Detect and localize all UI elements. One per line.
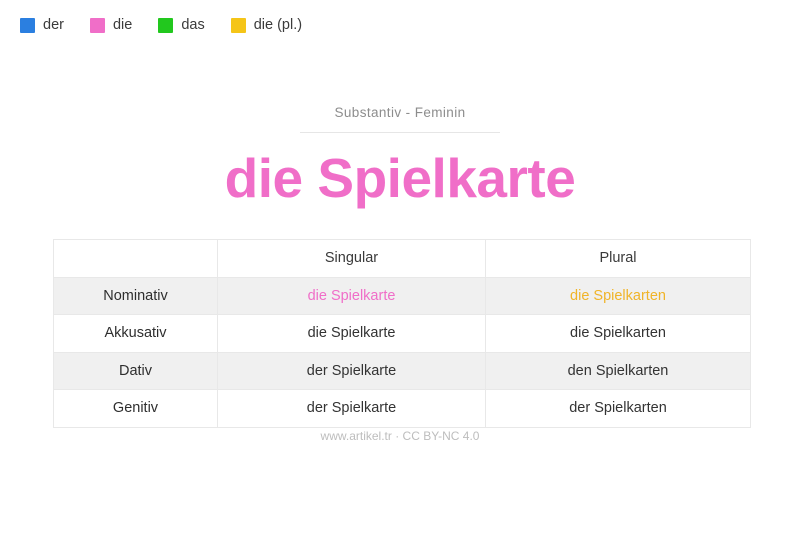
table-header-row: Singular Plural bbox=[54, 240, 751, 278]
legend-item-label: der bbox=[43, 18, 64, 33]
legend-item-der[interactable]: der bbox=[20, 18, 64, 33]
declension-table: Singular Plural Nominativdie Spielkarted… bbox=[53, 239, 751, 428]
table-row: Akkusativdie Spielkartedie Spielkarten bbox=[54, 315, 751, 353]
legend-item-label: die (pl.) bbox=[254, 18, 302, 33]
legend-item-label: das bbox=[181, 18, 204, 33]
cell-singular: die Spielkarte bbox=[218, 315, 486, 353]
word-category-subtitle: Substantiv - Feminin bbox=[0, 105, 800, 120]
page-title: die Spielkarte bbox=[0, 150, 800, 208]
cell-case: Nominativ bbox=[54, 277, 218, 315]
cell-plural: den Spielkarten bbox=[486, 352, 751, 390]
article-color-legend: derdiedasdie (pl.) bbox=[20, 18, 302, 33]
declension-table-head: Singular Plural bbox=[54, 240, 751, 278]
cell-case: Akkusativ bbox=[54, 315, 218, 353]
cell-plural: der Spielkarten bbox=[486, 390, 751, 428]
footer-attribution: www.artikel.tr · CC BY-NC 4.0 bbox=[0, 429, 800, 443]
legend-item-label: die bbox=[113, 18, 132, 33]
legend-item-die[interactable]: die bbox=[90, 18, 132, 33]
legend-item-diepl[interactable]: die (pl.) bbox=[231, 18, 302, 33]
column-header-plural: Plural bbox=[486, 240, 751, 278]
color-swatch-icon bbox=[158, 18, 173, 33]
cell-plural: die Spielkarten bbox=[486, 277, 751, 315]
cell-singular: die Spielkarte bbox=[218, 277, 486, 315]
cell-plural: die Spielkarten bbox=[486, 315, 751, 353]
color-swatch-icon bbox=[90, 18, 105, 33]
table-row: Genitivder Spielkarteder Spielkarten bbox=[54, 390, 751, 428]
cell-singular: der Spielkarte bbox=[218, 390, 486, 428]
cell-case: Genitiv bbox=[54, 390, 218, 428]
table-row: Nominativdie Spielkartedie Spielkarten bbox=[54, 277, 751, 315]
word-header: Substantiv - Feminin die Spielkarte bbox=[0, 105, 800, 208]
color-swatch-icon bbox=[231, 18, 246, 33]
cell-case: Dativ bbox=[54, 352, 218, 390]
table-row: Dativder Spielkarteden Spielkarten bbox=[54, 352, 751, 390]
cell-singular: der Spielkarte bbox=[218, 352, 486, 390]
page-root: derdiedasdie (pl.) Substantiv - Feminin … bbox=[0, 0, 800, 533]
column-header-case bbox=[54, 240, 218, 278]
header-divider bbox=[300, 132, 500, 133]
column-header-singular: Singular bbox=[218, 240, 486, 278]
legend-item-das[interactable]: das bbox=[158, 18, 204, 33]
declension-table-body: Nominativdie Spielkartedie SpielkartenAk… bbox=[54, 277, 751, 427]
color-swatch-icon bbox=[20, 18, 35, 33]
